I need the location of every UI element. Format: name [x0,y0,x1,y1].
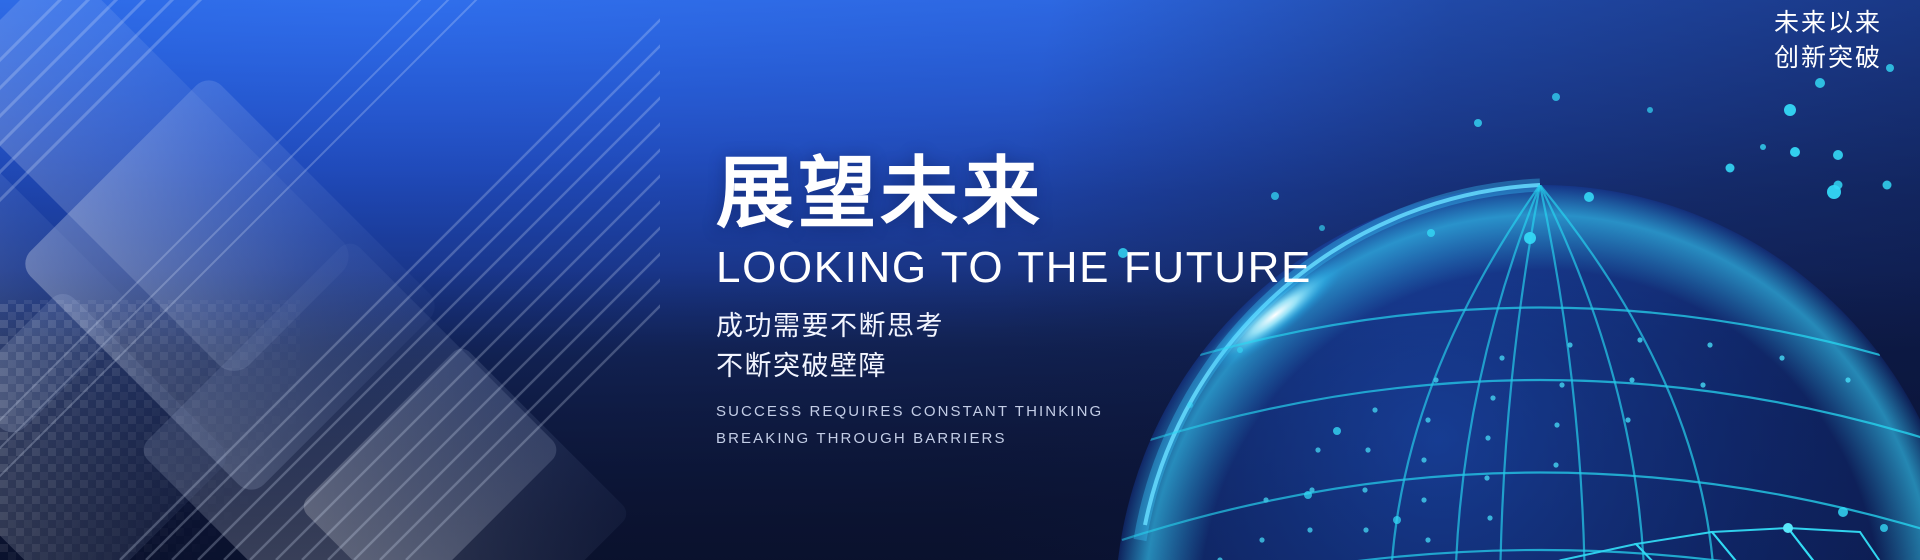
headline-block: 展望未来 LOOKING TO THE FUTURE 成功需要不断思考 不断突破… [716,152,1356,453]
corner-tagline-line-1: 未来以来 [1774,6,1882,41]
left-slabs [0,0,631,560]
corner-tagline: 未来以来 创新突破 [1774,6,1882,75]
page-title-english: LOOKING TO THE FUTURE [716,245,1356,292]
subtitle-line-1: 成功需要不断思考 [716,307,1356,346]
corner-tagline-line-2: 创新突破 [1774,41,1882,76]
banner-root: 展望未来 LOOKING TO THE FUTURE 成功需要不断思考 不断突破… [0,0,1920,560]
left-geometry-art [0,0,660,560]
caption-line-2: BREAKING THROUGH BARRIERS [716,425,1356,452]
caption-line-1: SUCCESS REQUIRES CONSTANT THINKING [716,398,1356,425]
page-title: 展望未来 [716,152,1356,235]
subtitle-line-2: 不断突破壁障 [716,347,1356,386]
